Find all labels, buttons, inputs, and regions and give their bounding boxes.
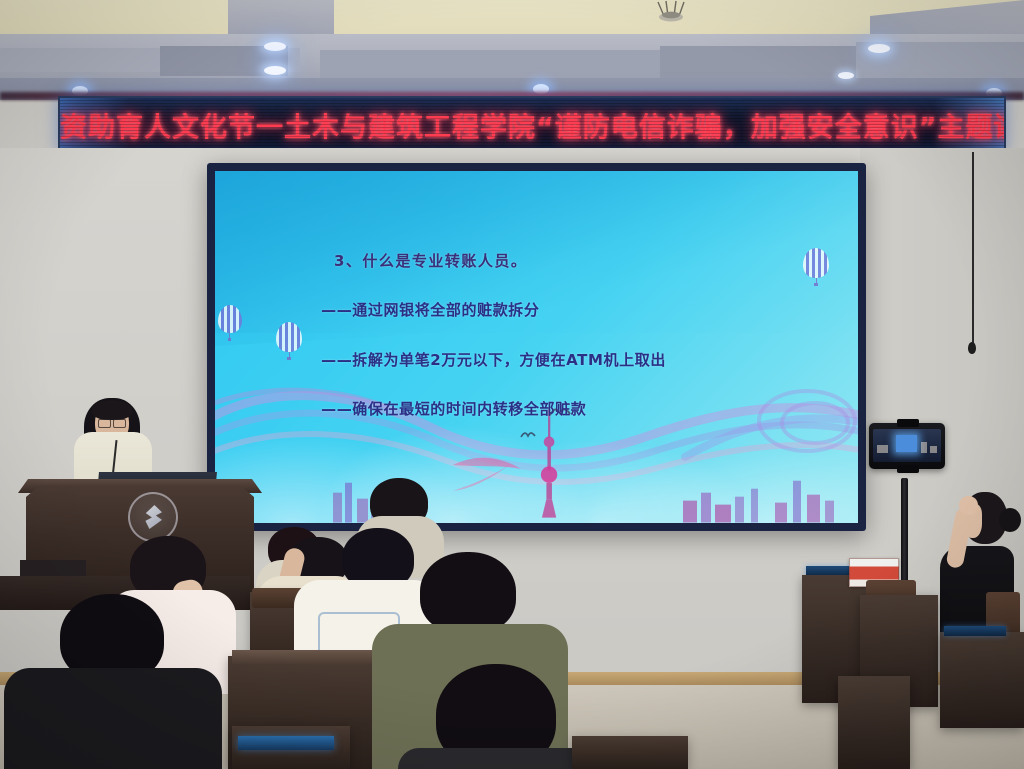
slide-bullet: ——拆解为单笔2万元以下，方便在ATM机上取出 <box>321 349 666 370</box>
ceiling-projector-fixture <box>650 0 694 24</box>
hot-air-balloon-icon <box>803 248 829 286</box>
attendee-hair-bun <box>999 508 1021 532</box>
desk-monitor <box>944 626 1006 636</box>
recording-smartphone-screen <box>873 429 941 462</box>
attendee-hand <box>959 496 978 515</box>
phone-clamp-top <box>897 419 919 427</box>
banner-text: 资助育人文化节一土木与建筑工程学院“谨防电信诈骗，加强安全意识”主题讲座 <box>60 106 1004 145</box>
balloon-basket <box>814 283 818 286</box>
drop-wire-tip <box>968 342 976 354</box>
university-crest-icon <box>128 492 178 542</box>
bird-icon <box>520 431 536 440</box>
lecture-hall-photo: 资助育人文化节一土木与建筑工程学院“谨防电信诈骗，加强安全意识”主题讲座 <box>0 0 1024 769</box>
hot-air-balloon-icon <box>276 322 302 360</box>
soffit-recess-center <box>660 46 860 80</box>
balloon-envelope <box>803 248 829 278</box>
podium-side-shelf <box>20 560 86 576</box>
projection-screen: 3、什么是专业转账人员。 ——通过网银将全部的赃款拆分 ——拆解为单笔2万元以下… <box>215 171 858 523</box>
balloon-envelope <box>218 305 242 333</box>
desk <box>572 736 688 769</box>
led-banner: 资助育人文化节一土木与建筑工程学院“谨防电信诈骗，加强安全意识”主题讲座 <box>58 96 1006 154</box>
desk <box>940 632 1024 728</box>
balloon-envelope <box>276 322 302 352</box>
balloon-basket <box>287 357 291 360</box>
desk <box>838 676 910 769</box>
attendee-torso <box>4 668 222 769</box>
desk-monitor <box>238 736 334 750</box>
phone-clamp-bottom <box>897 465 919 473</box>
ceiling-downlight <box>868 44 890 53</box>
slide-bullet: ——通过网银将全部的赃款拆分 <box>321 299 539 320</box>
balloon-basket <box>228 338 232 341</box>
soffit-panel-center <box>320 50 660 80</box>
projection-screen-bezel: 3、什么是专业转账人员。 ——通过网银将全部的赃款拆分 ——拆解为单笔2万元以下… <box>207 163 866 531</box>
phone-screen-highlight <box>896 435 916 452</box>
ceiling-downlight <box>838 72 854 79</box>
attendee-head <box>420 552 516 634</box>
oriental-pearl-tower-icon <box>533 405 565 518</box>
ceiling-downlight <box>264 42 286 51</box>
ceiling-drop-wire <box>972 152 974 348</box>
ceiling-soffit <box>0 34 1024 100</box>
desk-surface <box>232 650 392 664</box>
glasses-icon <box>98 419 126 426</box>
hot-air-balloon-icon <box>218 305 242 341</box>
slide-bullet: ——确保在最短的时间内转移全部赃款 <box>321 398 586 419</box>
speaker-fringe <box>92 400 132 420</box>
crest-mark <box>144 505 162 529</box>
phone-holder <box>869 423 945 469</box>
attendee-torso <box>398 748 598 769</box>
slide-heading: 3、什么是专业转账人员。 <box>334 250 527 271</box>
ceiling-downlight <box>264 66 286 75</box>
